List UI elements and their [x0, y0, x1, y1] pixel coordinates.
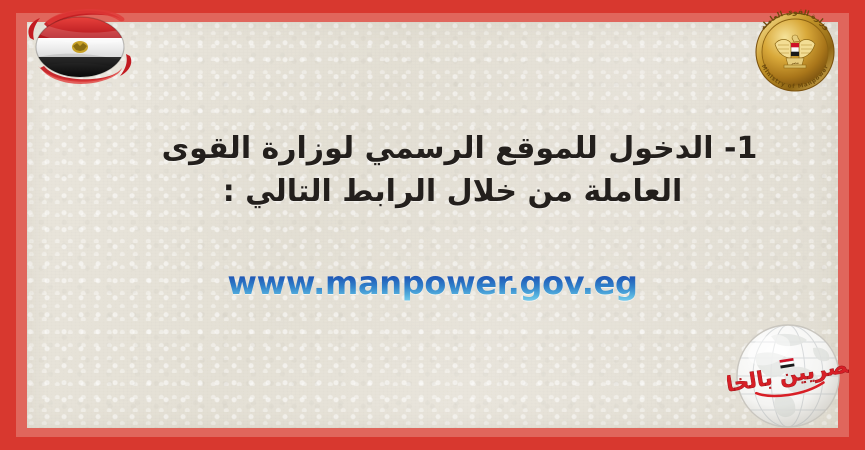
instruction-text-block: 1- الدخول للموقع الرسمي لوزارة القوى الع… [0, 128, 865, 213]
website-url-link[interactable]: www.manpower.gov.eg [227, 264, 637, 302]
svg-text:مصر: مصر [790, 60, 799, 65]
paper-background [27, 22, 838, 428]
instruction-card: وزارة القوى العاملة Ministry of Manpower [0, 0, 865, 450]
egyptians-abroad-globe-icon: المصريين بالخارج [727, 320, 849, 436]
website-url-container: www.manpower.gov.eg [0, 264, 865, 302]
instruction-line-2: العاملة من خلال الرابط التالي : [0, 171, 865, 214]
egypt-flag-ribbon-icon [22, 0, 138, 92]
ministry-of-manpower-seal-icon: وزارة القوى العاملة Ministry of Manpower [743, 4, 847, 94]
instruction-line-1: 1- الدخول للموقع الرسمي لوزارة القوى [0, 128, 865, 171]
